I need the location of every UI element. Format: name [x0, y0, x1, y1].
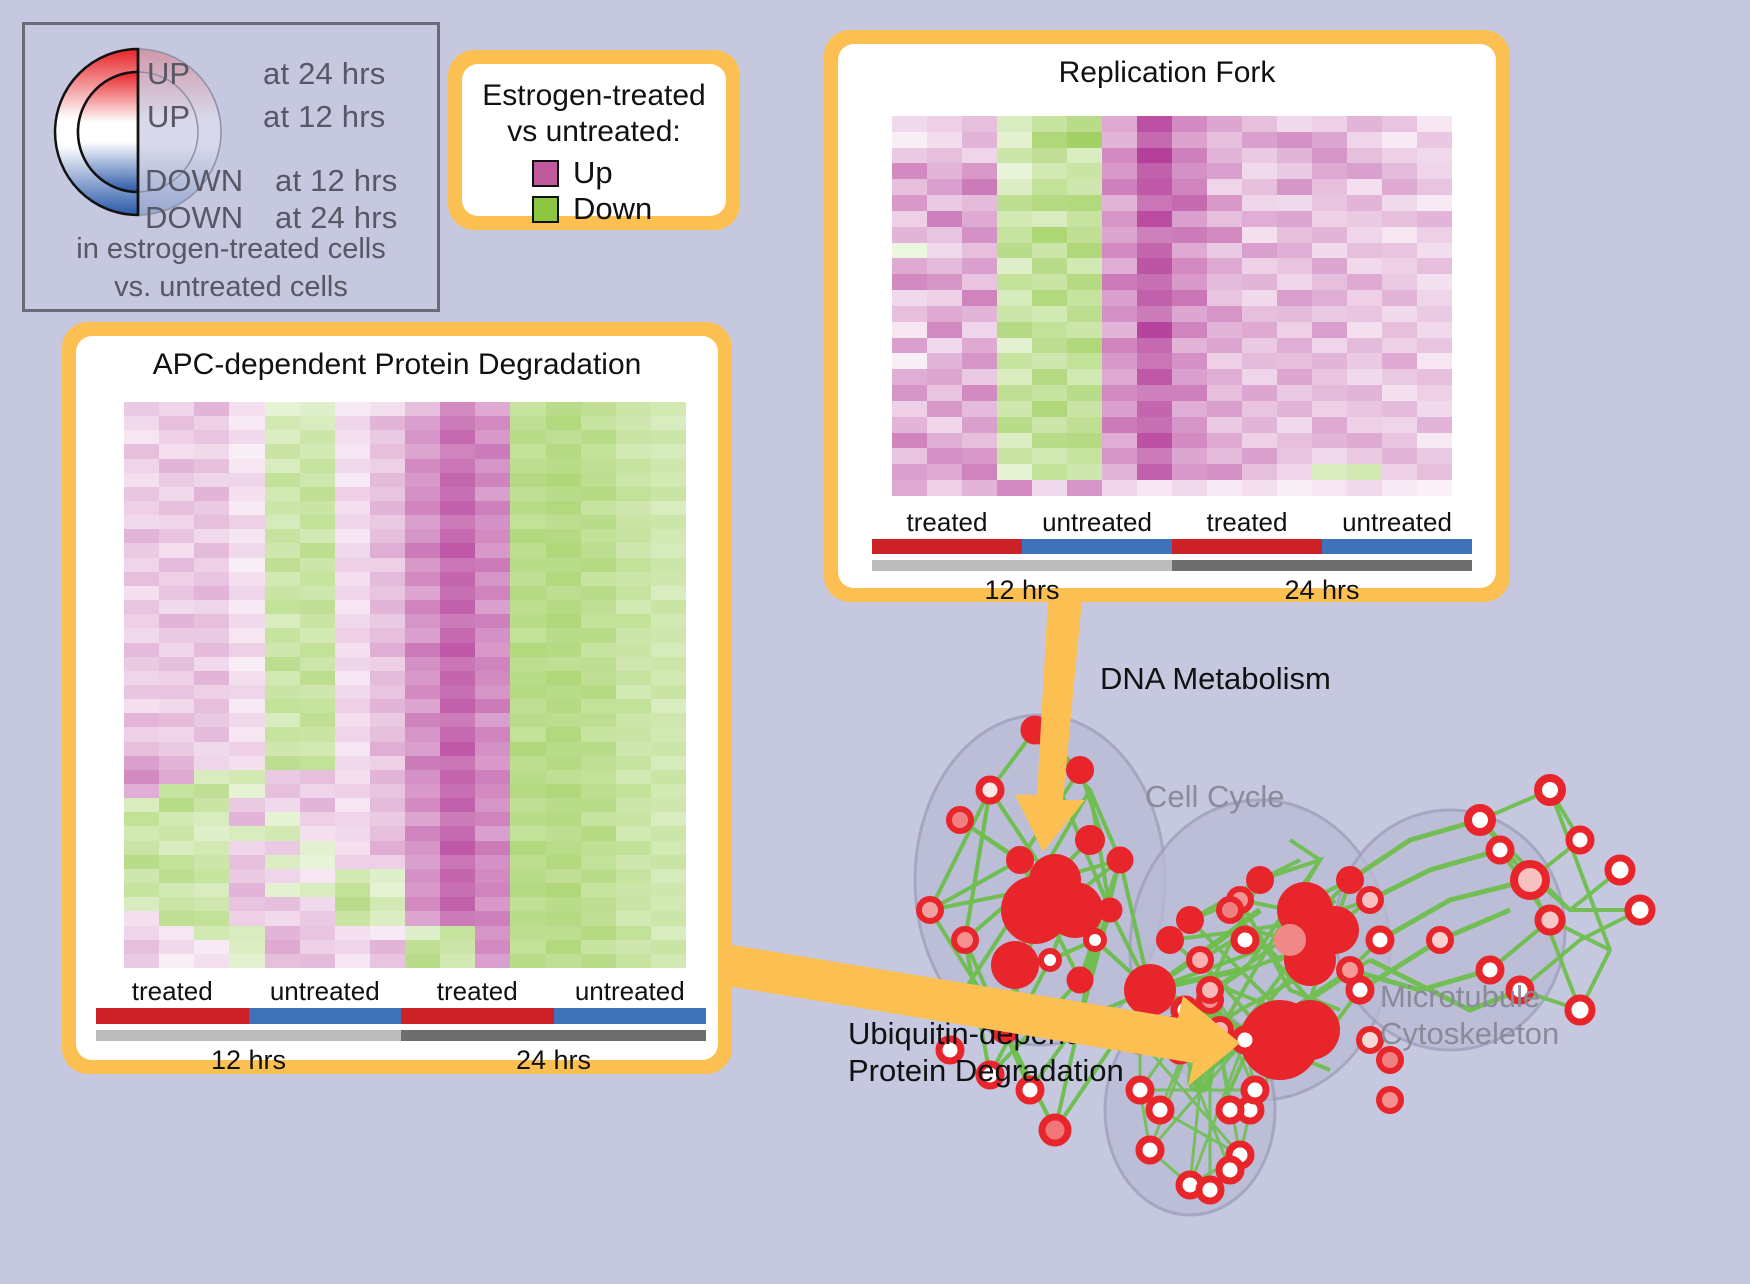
- heatmap-cell: [194, 501, 229, 515]
- heatmap-cell: [1347, 417, 1382, 433]
- heatmap-cell: [892, 258, 927, 274]
- heatmap-cell: [1242, 338, 1277, 354]
- heatmap-cell: [1207, 369, 1242, 385]
- time-label-12hrs: 12 hrs: [96, 1045, 401, 1076]
- heatmap-cell: [405, 515, 440, 529]
- heatmap-cell: [1382, 290, 1417, 306]
- heatmap-cell: [335, 784, 370, 798]
- heatmap-cell: [1277, 179, 1312, 195]
- heatmap-cell: [300, 529, 335, 543]
- heatmap-cell: [159, 572, 194, 586]
- heatmap-cell: [962, 163, 997, 179]
- heatmap-cell: [997, 338, 1032, 354]
- heatmap-cell: [475, 543, 510, 557]
- heatmap-cell: [1382, 322, 1417, 338]
- heatmap-cell: [1067, 290, 1102, 306]
- heatmap-cell: [927, 243, 962, 259]
- heatmap-cell: [194, 628, 229, 642]
- heatmap-cell: [546, 883, 581, 897]
- heatmap-cell: [1067, 417, 1102, 433]
- heatmap-cell: [892, 116, 927, 132]
- heatmap-cell: [581, 487, 616, 501]
- heatmap-cell: [1347, 306, 1382, 322]
- heatmap-cell: [651, 940, 686, 954]
- heatmap-cell: [1102, 480, 1137, 496]
- heatmap-cell: [335, 926, 370, 940]
- heatmap-cell: [927, 116, 962, 132]
- heatmap-cell: [159, 430, 194, 444]
- heatmap-cell: [124, 515, 159, 529]
- heatmap-cell: [510, 515, 545, 529]
- heatmap-cell: [1382, 116, 1417, 132]
- heatmap-cell: [335, 515, 370, 529]
- heatmap-cell: [335, 940, 370, 954]
- heatmap-cell: [1032, 116, 1067, 132]
- heatmap-cell: [651, 855, 686, 869]
- heatmap-cell: [1102, 353, 1137, 369]
- heatmap-cell: [370, 572, 405, 586]
- heatmap-cell: [124, 543, 159, 557]
- heatmap-cell: [997, 148, 1032, 164]
- heatmap-cell: [1382, 195, 1417, 211]
- heatmap-cell: [1242, 195, 1277, 211]
- heatmap-cell: [1242, 243, 1277, 259]
- heatmap-cell: [1382, 480, 1417, 496]
- heatmap-cell: [1382, 448, 1417, 464]
- heatmap-cell: [1277, 417, 1312, 433]
- heatmap-cell: [1277, 306, 1312, 322]
- heatmap-cell: [335, 897, 370, 911]
- heatmap-cell: [1137, 464, 1172, 480]
- heatmap-cell: [159, 614, 194, 628]
- heatmap-cell: [124, 869, 159, 883]
- heatmap-cell: [194, 473, 229, 487]
- heatmap-cell: [265, 855, 300, 869]
- heatmap-cell: [510, 671, 545, 685]
- heatmap-cell: [1417, 258, 1452, 274]
- heatmap-cell: [475, 487, 510, 501]
- time-label-12hrs: 12 hrs: [872, 575, 1172, 606]
- heatmap-cell: [440, 869, 475, 883]
- heatmap-cell: [581, 869, 616, 883]
- heatmap-cell: [510, 685, 545, 699]
- heatmap-cell: [194, 841, 229, 855]
- heatmap-cell: [927, 290, 962, 306]
- heatmap-cell: [651, 515, 686, 529]
- heatmap-cell: [1172, 179, 1207, 195]
- heatmap-cell: [997, 306, 1032, 322]
- heatmap-cell: [1242, 480, 1277, 496]
- heatmap-cell: [124, 841, 159, 855]
- up-swatch-icon: [532, 160, 559, 187]
- heatmap-cell: [405, 883, 440, 897]
- heatmap-cell: [1032, 274, 1067, 290]
- heatmap-cell: [1172, 116, 1207, 132]
- legend-panel: Estrogen-treated vs untreated: Up Down: [448, 50, 740, 230]
- heatmap-cell: [440, 742, 475, 756]
- heatmap-cell: [997, 464, 1032, 480]
- heatmap-cell: [1347, 433, 1382, 449]
- heatmap-cell: [159, 784, 194, 798]
- heatmap-cell: [510, 869, 545, 883]
- heatmap-cell: [1172, 274, 1207, 290]
- heatmap-cell: [159, 911, 194, 925]
- heatmap-cell: [1277, 401, 1312, 417]
- heatmap-cell: [581, 926, 616, 940]
- heatmap-cell: [927, 401, 962, 417]
- heatmap-cell: [229, 784, 264, 798]
- heatmap-cell: [616, 855, 651, 869]
- apc-time-labels: 12 hrs 24 hrs: [96, 1045, 706, 1076]
- heatmap-cell: [194, 869, 229, 883]
- heatmap-cell: [651, 883, 686, 897]
- heatmap-cell: [475, 600, 510, 614]
- heatmap-cell: [440, 501, 475, 515]
- heatmap-cell: [581, 841, 616, 855]
- heatmap-cell: [997, 258, 1032, 274]
- heatmap-cell: [265, 770, 300, 784]
- heatmap-cell: [1242, 116, 1277, 132]
- heatmap-cell: [440, 543, 475, 557]
- heatmap-cell: [370, 628, 405, 642]
- heatmap-cell: [546, 614, 581, 628]
- heatmap-cell: [616, 699, 651, 713]
- heatmap-cell: [300, 657, 335, 671]
- heatmap-cell: [265, 430, 300, 444]
- group-bar-treated: [401, 1008, 554, 1024]
- heatmap-cell: [194, 742, 229, 756]
- key-time-2: at 12 hrs: [275, 163, 397, 199]
- heatmap-cell: [1032, 401, 1067, 417]
- heatmap-cell: [997, 227, 1032, 243]
- heatmap-cell: [300, 430, 335, 444]
- heatmap-cell: [405, 855, 440, 869]
- heatmap-cell: [1207, 464, 1242, 480]
- heatmap-cell: [229, 501, 264, 515]
- heatmap-cell: [651, 742, 686, 756]
- heatmap-cell: [265, 643, 300, 657]
- heatmap-cell: [335, 444, 370, 458]
- heatmap-cell: [265, 699, 300, 713]
- heatmap-cell: [335, 713, 370, 727]
- heatmap-cell: [962, 448, 997, 464]
- heatmap-cell: [370, 558, 405, 572]
- heatmap-cell: [265, 402, 300, 416]
- heatmap-cell: [581, 727, 616, 741]
- heatmap-cell: [229, 685, 264, 699]
- heatmap-cell: [1347, 338, 1382, 354]
- heatmap-cell: [997, 353, 1032, 369]
- heatmap-cell: [440, 515, 475, 529]
- heatmap-cell: [194, 713, 229, 727]
- heatmap-cell: [194, 926, 229, 940]
- heatmap-cell: [265, 572, 300, 586]
- heatmap-cell: [124, 657, 159, 671]
- heatmap-cell: [194, 515, 229, 529]
- heatmap-cell: [159, 940, 194, 954]
- heatmap-cell: [616, 473, 651, 487]
- heatmap-cell: [1102, 448, 1137, 464]
- heatmap-cell: [1032, 132, 1067, 148]
- heatmap-cell: [1207, 258, 1242, 274]
- heatmap-cell: [892, 274, 927, 290]
- heatmap-cell: [335, 855, 370, 869]
- heatmap-cell: [962, 227, 997, 243]
- heatmap-cell: [300, 543, 335, 557]
- heatmap-cell: [546, 798, 581, 812]
- heatmap-cell: [510, 543, 545, 557]
- heatmap-cell: [229, 727, 264, 741]
- heatmap-cell: [546, 727, 581, 741]
- heatmap-cell: [229, 529, 264, 543]
- heatmap-cell: [1417, 243, 1452, 259]
- heatmap-cell: [370, 614, 405, 628]
- heatmap-cell: [300, 897, 335, 911]
- heatmap-cell: [651, 430, 686, 444]
- heatmap-cell: [300, 643, 335, 657]
- heatmap-cell: [510, 416, 545, 430]
- heatmap-cell: [124, 501, 159, 515]
- heatmap-cell: [616, 444, 651, 458]
- heatmap-cell: [335, 543, 370, 557]
- heatmap-cell: [581, 897, 616, 911]
- heatmap-cell: [440, 402, 475, 416]
- heatmap-cell: [1242, 448, 1277, 464]
- heatmap-cell: [194, 883, 229, 897]
- heatmap-cell: [1347, 227, 1382, 243]
- heatmap-cell: [1032, 195, 1067, 211]
- heatmap-cell: [1067, 211, 1102, 227]
- heatmap-cell: [1137, 290, 1172, 306]
- heatmap-cell: [1347, 116, 1382, 132]
- heatmap-cell: [440, 416, 475, 430]
- heatmap-cell: [475, 628, 510, 642]
- heatmap-cell: [265, 798, 300, 812]
- heatmap-cell: [1417, 179, 1452, 195]
- heatmap-cell: [229, 671, 264, 685]
- replication-fork-time-bars: [872, 560, 1472, 571]
- heatmap-cell: [1347, 448, 1382, 464]
- heatmap-cell: [546, 784, 581, 798]
- heatmap-cell: [229, 473, 264, 487]
- heatmap-cell: [440, 798, 475, 812]
- heatmap-cell: [1417, 480, 1452, 496]
- heatmap-cell: [1102, 338, 1137, 354]
- heatmap-cell: [892, 290, 927, 306]
- heatmap-cell: [997, 369, 1032, 385]
- heatmap-cell: [1102, 433, 1137, 449]
- heatmap-cell: [1312, 195, 1347, 211]
- heatmap-cell: [405, 784, 440, 798]
- heatmap-cell: [300, 600, 335, 614]
- heatmap-cell: [1137, 163, 1172, 179]
- heatmap-cell: [124, 600, 159, 614]
- heatmap-cell: [651, 784, 686, 798]
- heatmap-cell: [440, 459, 475, 473]
- heatmap-cell: [124, 798, 159, 812]
- heatmap-cell: [194, 657, 229, 671]
- heatmap-cell: [124, 586, 159, 600]
- heatmap-cell: [265, 841, 300, 855]
- heatmap-cell: [927, 464, 962, 480]
- heatmap-cell: [581, 940, 616, 954]
- heatmap-cell: [405, 416, 440, 430]
- heatmap-cell: [335, 685, 370, 699]
- heatmap-cell: [370, 784, 405, 798]
- heatmap-cell: [194, 416, 229, 430]
- heatmap-cell: [159, 402, 194, 416]
- heatmap-cell: [1242, 211, 1277, 227]
- heatmap-cell: [1172, 480, 1207, 496]
- replication-fork-inner: Replication Fork treated untreated treat…: [838, 44, 1496, 588]
- heatmap-cell: [335, 883, 370, 897]
- heatmap-cell: [1242, 401, 1277, 417]
- heatmap-cell: [300, 671, 335, 685]
- heatmap-cell: [546, 402, 581, 416]
- heatmap-cell: [1067, 433, 1102, 449]
- heatmap-cell: [616, 727, 651, 741]
- heatmap-cell: [440, 954, 475, 968]
- heatmap-cell: [265, 869, 300, 883]
- network-svg: [790, 610, 1750, 1279]
- heatmap-cell: [335, 911, 370, 925]
- heatmap-cell: [1312, 464, 1347, 480]
- heatmap-cell: [1242, 290, 1277, 306]
- heatmap-cell: [440, 558, 475, 572]
- heatmap-cell: [405, 430, 440, 444]
- heatmap-cell: [370, 657, 405, 671]
- heatmap-cell: [440, 897, 475, 911]
- heatmap-cell: [475, 614, 510, 628]
- heatmap-cell: [1347, 322, 1382, 338]
- heatmap-cell: [405, 926, 440, 940]
- heatmap-cell: [1382, 385, 1417, 401]
- heatmap-cell: [581, 756, 616, 770]
- heatmap-cell: [997, 179, 1032, 195]
- heatmap-cell: [194, 487, 229, 501]
- heatmap-cell: [651, 699, 686, 713]
- heatmap-cell: [1382, 227, 1417, 243]
- heatmap-cell: [440, 699, 475, 713]
- heatmap-cell: [335, 473, 370, 487]
- heatmap-cell: [1067, 448, 1102, 464]
- heatmap-cell: [1382, 369, 1417, 385]
- heatmap-cell: [927, 338, 962, 354]
- heatmap-cell: [616, 671, 651, 685]
- heatmap-cell: [1242, 148, 1277, 164]
- heatmap-cell: [1312, 179, 1347, 195]
- heatmap-cell: [124, 756, 159, 770]
- legend-item-up: Up: [532, 156, 726, 190]
- heatmap-cell: [1417, 353, 1452, 369]
- heatmap-cell: [1102, 243, 1137, 259]
- heatmap-cell: [581, 657, 616, 671]
- heatmap-cell: [265, 911, 300, 925]
- heatmap-cell: [229, 657, 264, 671]
- heatmap-cell: [1347, 258, 1382, 274]
- heatmap-cell: [194, 699, 229, 713]
- heatmap-cell: [265, 756, 300, 770]
- heatmap-cell: [265, 529, 300, 543]
- heatmap-cell: [1242, 353, 1277, 369]
- heatmap-cell: [159, 643, 194, 657]
- heatmap-cell: [1172, 163, 1207, 179]
- heatmap-cell: [370, 826, 405, 840]
- heatmap-cell: [475, 515, 510, 529]
- heatmap-cell: [1277, 148, 1312, 164]
- heatmap-cell: [124, 529, 159, 543]
- heatmap-cell: [962, 338, 997, 354]
- heatmap-cell: [1277, 480, 1312, 496]
- heatmap-cell: [370, 855, 405, 869]
- heatmap-cell: [229, 459, 264, 473]
- heatmap-cell: [616, 529, 651, 543]
- heatmap-cell: [1312, 148, 1347, 164]
- heatmap-cell: [229, 430, 264, 444]
- heatmap-cell: [370, 940, 405, 954]
- heatmap-cell: [1277, 195, 1312, 211]
- heatmap-cell: [335, 826, 370, 840]
- heatmap-cell: [194, 798, 229, 812]
- heatmap-cell: [370, 742, 405, 756]
- heatmap-cell: [1172, 258, 1207, 274]
- heatmap-cell: [616, 600, 651, 614]
- heatmap-cell: [440, 926, 475, 940]
- heatmap-cell: [1172, 353, 1207, 369]
- heatmap-cell: [265, 812, 300, 826]
- heatmap-cell: [159, 558, 194, 572]
- heatmap-cell: [651, 459, 686, 473]
- heatmap-cell: [265, 883, 300, 897]
- heatmap-cell: [546, 940, 581, 954]
- heatmap-cell: [510, 529, 545, 543]
- heatmap-cell: [1277, 322, 1312, 338]
- heatmap-cell: [475, 926, 510, 940]
- heatmap-cell: [124, 954, 159, 968]
- heatmap-cell: [1137, 401, 1172, 417]
- heatmap-cell: [1067, 274, 1102, 290]
- heatmap-cell: [651, 529, 686, 543]
- heatmap-cell: [581, 430, 616, 444]
- heatmap-cell: [927, 306, 962, 322]
- heatmap-cell: [300, 812, 335, 826]
- heatmap-cell: [1277, 243, 1312, 259]
- heatmap-cell: [370, 911, 405, 925]
- apc-time-bars: [96, 1030, 706, 1041]
- heatmap-cell: [1347, 132, 1382, 148]
- heatmap-cell: [581, 515, 616, 529]
- heatmap-cell: [159, 501, 194, 515]
- heatmap-cell: [124, 572, 159, 586]
- heatmap-cell: [1417, 195, 1452, 211]
- heatmap-cell: [159, 628, 194, 642]
- heatmap-cell: [1312, 274, 1347, 290]
- heatmap-cell: [962, 306, 997, 322]
- heatmap-cell: [510, 487, 545, 501]
- heatmap-cell: [1312, 417, 1347, 433]
- heatmap-cell: [1242, 417, 1277, 433]
- replication-fork-heatmap: [892, 116, 1452, 496]
- heatmap-cell: [370, 798, 405, 812]
- heatmap-cell: [265, 586, 300, 600]
- heatmap-cell: [1312, 116, 1347, 132]
- heatmap-cell: [997, 243, 1032, 259]
- heatmap-cell: [335, 869, 370, 883]
- heatmap-cell: [194, 586, 229, 600]
- heatmap-cell: [405, 812, 440, 826]
- heatmap-cell: [1137, 306, 1172, 322]
- heatmap-cell: [1347, 274, 1382, 290]
